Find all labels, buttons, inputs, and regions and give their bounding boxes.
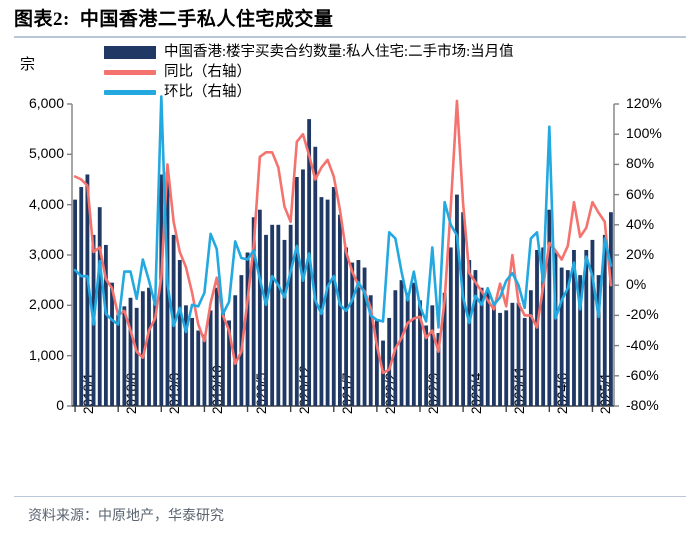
bar — [406, 293, 410, 406]
bar — [270, 225, 274, 406]
bar — [412, 283, 416, 406]
bar — [510, 303, 514, 406]
bar — [486, 290, 490, 406]
bar — [517, 303, 521, 406]
bar — [338, 215, 342, 406]
bar — [122, 306, 126, 406]
bar — [301, 169, 305, 406]
bar — [79, 187, 83, 406]
bar — [560, 268, 564, 406]
bar — [178, 260, 182, 406]
bar — [289, 225, 293, 406]
chart-figure: 图表2:中国香港二手私人住宅成交量 宗 中国香港:楼宇买卖合约数量:私人住宅:二… — [0, 0, 700, 535]
bar — [203, 335, 207, 406]
bar — [209, 310, 213, 406]
bar — [147, 288, 151, 406]
footer-divider — [14, 496, 686, 497]
bar — [474, 270, 478, 406]
bar — [504, 310, 508, 406]
bar — [110, 283, 114, 406]
bar — [461, 212, 465, 406]
bar — [332, 187, 336, 406]
bar — [295, 177, 299, 406]
bar — [129, 298, 133, 406]
bar — [196, 331, 200, 407]
bar — [529, 290, 533, 406]
bar — [591, 240, 595, 406]
bar — [313, 147, 317, 406]
bar — [98, 207, 102, 406]
bar-series — [73, 119, 613, 406]
bar — [449, 247, 453, 406]
bar — [498, 313, 502, 406]
bar — [492, 305, 496, 406]
bar — [215, 288, 219, 406]
bar — [467, 260, 471, 406]
bar — [344, 247, 348, 406]
bar — [246, 252, 250, 406]
bar — [73, 200, 77, 406]
bar — [276, 225, 280, 406]
bar — [264, 235, 268, 406]
bar — [135, 308, 139, 406]
bar — [258, 210, 262, 406]
bar — [350, 263, 354, 406]
bar — [547, 210, 551, 406]
bar — [116, 314, 120, 406]
chart-canvas — [0, 0, 700, 535]
bar — [326, 200, 330, 406]
bar — [190, 318, 194, 406]
bar — [609, 212, 613, 406]
plot-area: 01,0002,0003,0004,0005,0006,000-80%-60%-… — [0, 0, 700, 535]
bar — [523, 318, 527, 406]
bar — [221, 310, 225, 406]
bar — [430, 305, 434, 406]
bar — [283, 240, 287, 406]
bar — [400, 280, 404, 406]
source-note: 资料来源：中原地产，华泰研究 — [28, 505, 224, 525]
bar — [455, 195, 459, 406]
bar — [320, 197, 324, 406]
